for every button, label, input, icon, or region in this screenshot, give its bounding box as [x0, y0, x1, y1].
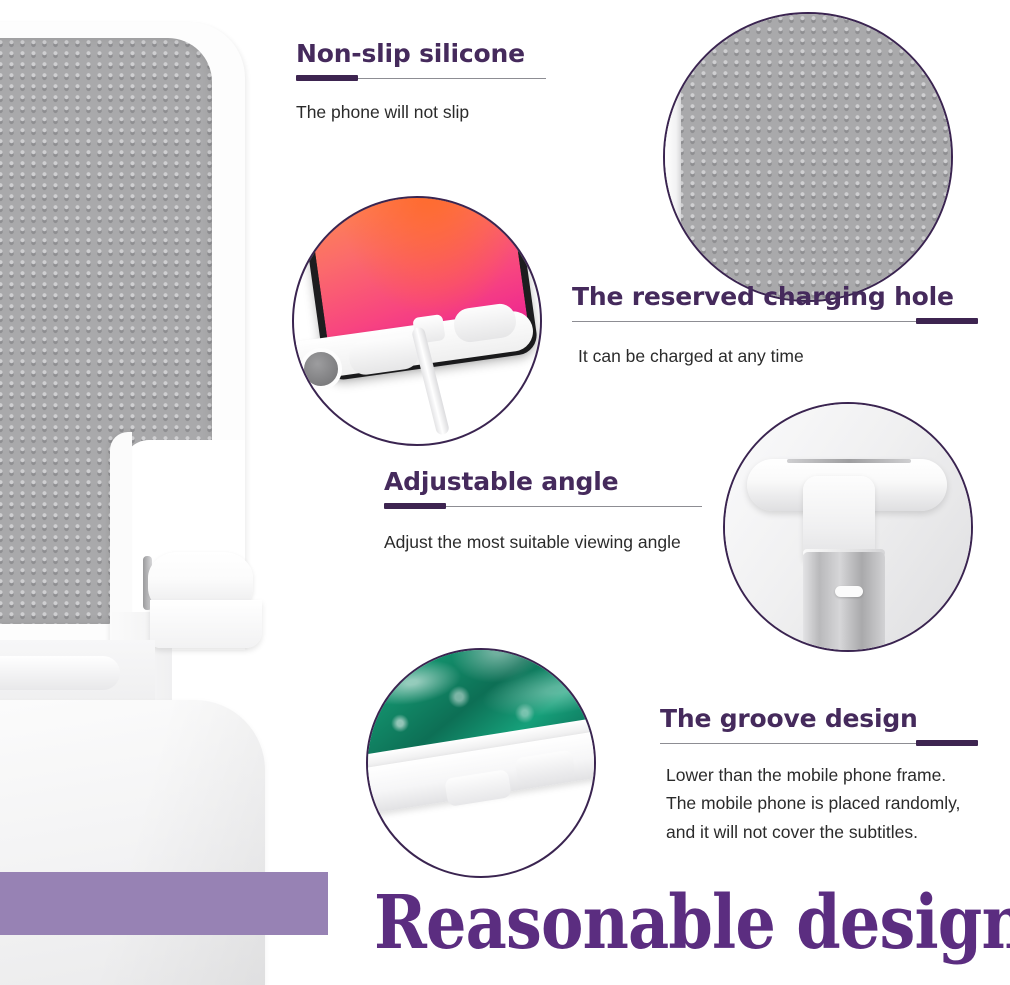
main-product-photo: [0, 0, 300, 985]
feature-groove-title: The groove design: [660, 705, 978, 733]
feature-nonslip-body: The phone will not slip: [296, 98, 546, 126]
feature-nonslip-title: Non-slip silicone: [296, 40, 546, 68]
detail-circle-silicone-texture: [663, 12, 953, 302]
feature-groove-body: Lower than the mobile phone frame. The m…: [666, 761, 978, 846]
feature-angle-body: Adjust the most suitable viewing angle: [384, 528, 702, 556]
feature-charging-hole: The reserved charging hole It can be cha…: [572, 283, 978, 370]
hinge-ledge: [150, 600, 262, 648]
detail-circle-groove-design: [366, 648, 596, 878]
metal-post: [803, 552, 885, 652]
feature-groove-body-line3: and it will not cover the subtitles.: [666, 822, 918, 842]
feature-angle-title: Adjustable angle: [384, 468, 702, 496]
feature-charging-rule: [572, 318, 978, 325]
silicone-frame-strip: [665, 14, 681, 300]
hinge-seam: [787, 459, 911, 463]
silicone-texture-fill: [665, 14, 951, 300]
purple-accent-bar: [0, 872, 328, 935]
feature-groove-body-line1: Lower than the mobile phone frame.: [666, 765, 946, 785]
rule-accent: [384, 503, 446, 509]
rule-accent: [916, 318, 978, 324]
feature-groove-rule: [660, 740, 978, 747]
rule-accent: [296, 75, 358, 81]
release-button: [835, 586, 863, 597]
product-infographic: Non-slip silicone The phone will not sli…: [0, 0, 1010, 985]
feature-charging-body: It can be charged at any time: [578, 342, 978, 370]
feature-nonslip-rule: [296, 75, 546, 82]
feature-charging-title: The reserved charging hole: [572, 283, 978, 311]
feature-nonslip-silicone: Non-slip silicone The phone will not sli…: [296, 40, 546, 126]
feature-groove-body-line2: The mobile phone is placed randomly,: [666, 793, 960, 813]
cradle-end-cap: [300, 348, 342, 390]
banner-headline: Reasonable design: [374, 886, 921, 960]
feature-angle-rule: [384, 503, 702, 510]
detail-circle-adjustable-hinge: [723, 402, 973, 652]
detail-circle-charging-hole: [292, 196, 542, 446]
stand-base-shading: [0, 700, 265, 985]
rule-accent: [916, 740, 978, 746]
feature-groove-design: The groove design Lower than the mobile …: [660, 705, 978, 846]
feature-adjustable-angle: Adjustable angle Adjust the most suitabl…: [384, 468, 702, 556]
stand-neck-roll: [0, 656, 120, 690]
